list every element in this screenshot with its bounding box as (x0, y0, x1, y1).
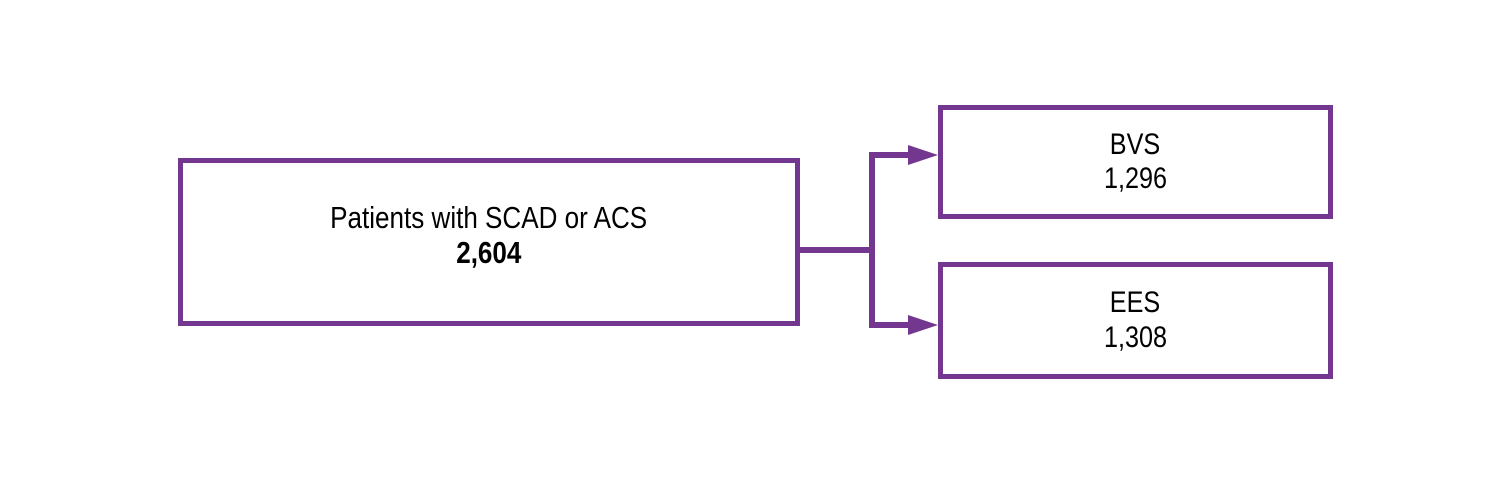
node-ees-value: 1,308 (1104, 321, 1167, 355)
node-ees-label: EES (1110, 286, 1160, 320)
arrowhead-bvs-icon (908, 145, 938, 165)
arrowhead-ees-icon (908, 315, 938, 335)
node-ees: EES 1,308 (938, 262, 1333, 379)
node-patients-total: Patients with SCAD or ACS 2,604 (178, 158, 800, 326)
node-bvs-value: 1,296 (1104, 162, 1167, 196)
node-patients-total-value: 2,604 (456, 235, 521, 270)
node-patients-total-label: Patients with SCAD or ACS (331, 200, 648, 235)
diagram-canvas: Patients with SCAD or ACS 2,604 BVS 1,29… (0, 0, 1512, 482)
node-bvs: BVS 1,296 (938, 105, 1333, 219)
node-bvs-label: BVS (1110, 128, 1160, 162)
